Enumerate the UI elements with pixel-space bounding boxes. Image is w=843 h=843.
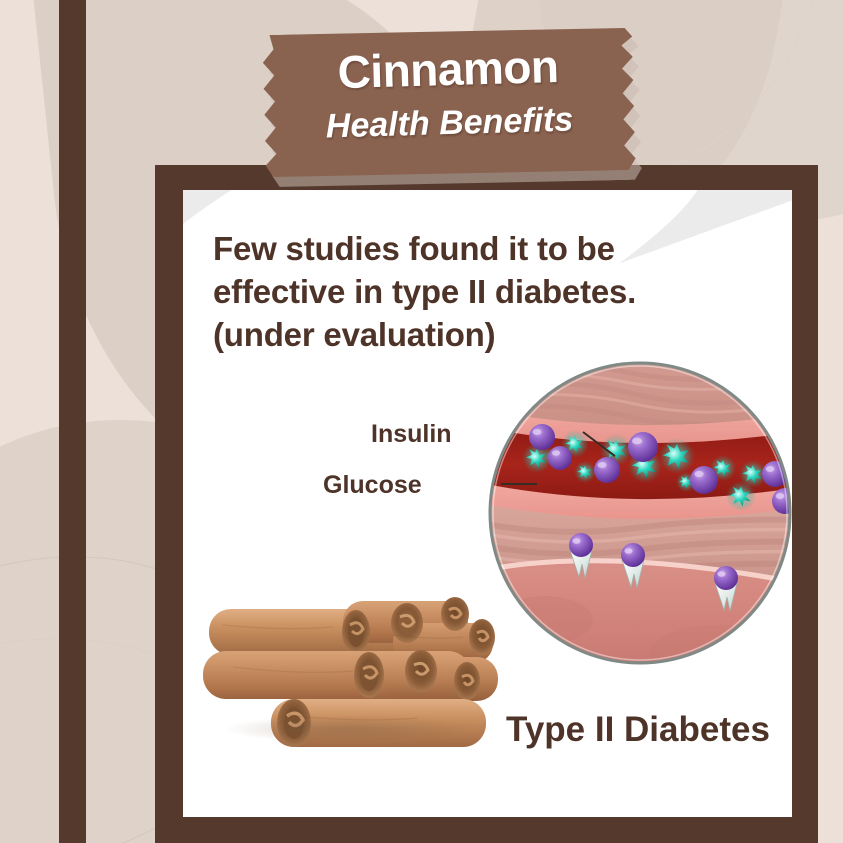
banner-title: Cinnamon: [262, 37, 633, 101]
content-panel-frame: Few studies found it to be effective in …: [155, 165, 818, 843]
cinnamon-shadow: [223, 715, 473, 743]
title-banner: Cinnamon Health Benefits: [262, 25, 636, 180]
insulin-label: Insulin: [371, 420, 452, 449]
headline-line-1: Few studies found it to be: [213, 228, 653, 271]
content-panel: Few studies found it to be effective in …: [183, 190, 792, 817]
panel-inner: Few studies found it to be effective in …: [183, 190, 792, 817]
headline-line-3: (under evaluation): [213, 314, 653, 357]
cinnamon-sticks-svg: [193, 565, 503, 795]
infographic-canvas: Few studies found it to be effective in …: [0, 0, 843, 843]
left-accent-bar: [59, 0, 86, 843]
headline-text: Few studies found it to be effective in …: [213, 228, 653, 357]
diabetes-diagram: [485, 358, 792, 668]
headline-line-2: effective in type II diabetes.: [213, 271, 653, 314]
glucose-leader-line: [501, 483, 537, 485]
diagram-caption: Type II Diabetes: [473, 710, 792, 750]
blood-vessel-illustration: [485, 358, 792, 668]
cinnamon-sticks-image: [193, 565, 503, 795]
glucose-label: Glucose: [323, 471, 422, 500]
